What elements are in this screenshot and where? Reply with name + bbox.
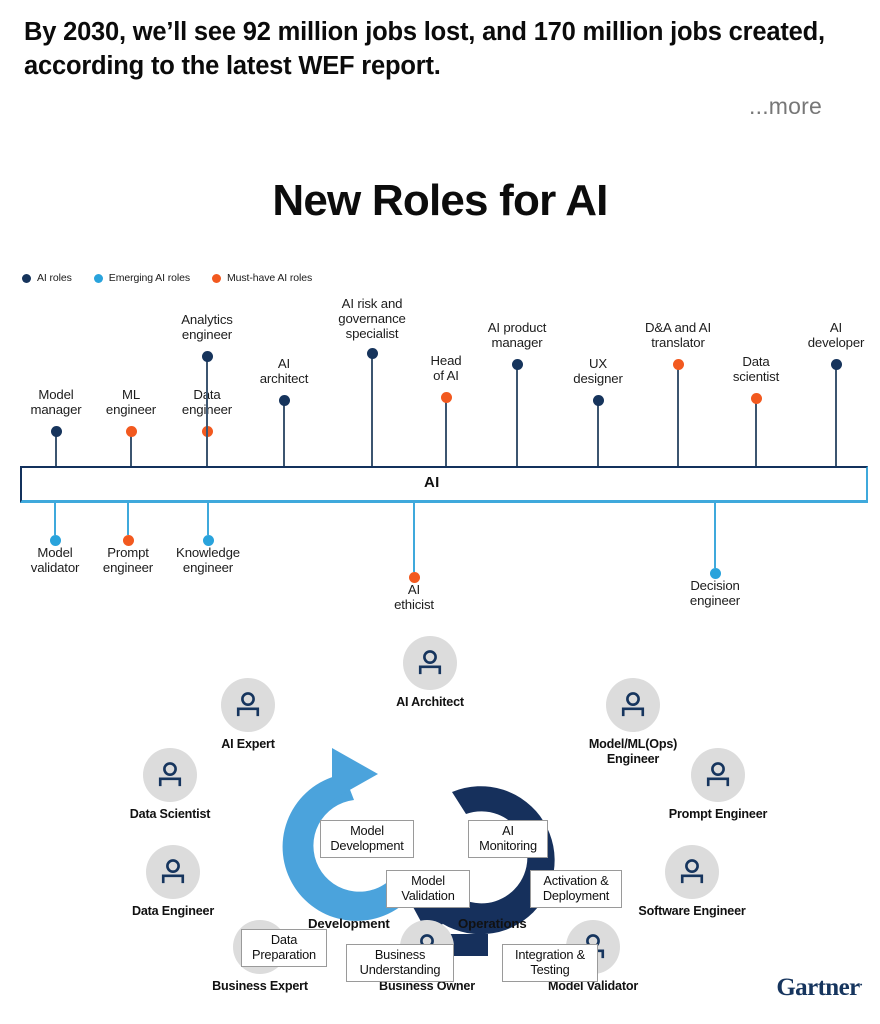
legend-dot-icon — [212, 274, 221, 283]
legend-dot-icon — [94, 274, 103, 283]
gartner-role[interactable]: Software Engineer — [617, 845, 767, 919]
node-stem — [755, 398, 757, 466]
legend-item: Emerging AI roles — [94, 272, 190, 284]
gartner-lifecycle-diagram: Gartner. AI ArchitectAI ExpertModel/ML(O… — [0, 636, 880, 1024]
gartner-role[interactable]: AI Expert — [173, 678, 323, 752]
more-row: ...more — [24, 93, 856, 120]
development-arrowhead — [332, 748, 378, 800]
role-node-label: AI ethicist — [334, 582, 494, 612]
role-node-label: AI risk and governance specialist — [292, 296, 452, 341]
role-node-dot[interactable] — [751, 393, 762, 404]
legend-label: Emerging AI roles — [109, 272, 190, 284]
person-icon — [146, 845, 200, 899]
lifecycle-step-box[interactable]: Model Development — [320, 820, 414, 858]
role-node-label: Decision engineer — [635, 578, 795, 608]
gartner-role-label: Data Scientist — [95, 807, 245, 822]
role-node-dot[interactable] — [831, 359, 842, 370]
role-node-label: Knowledge engineer — [128, 545, 288, 575]
node-stem — [413, 503, 415, 572]
person-icon — [606, 678, 660, 732]
gartner-role[interactable]: AI Architect — [355, 636, 505, 710]
gartner-logo-text: Gartner — [776, 974, 859, 1001]
role-node-label: AI developer — [756, 320, 880, 350]
post-text: By 2030, we’ll see 92 million jobs lost,… — [24, 16, 856, 83]
lifecycle-phase-label: Operations — [458, 916, 527, 931]
gartner-role[interactable]: Prompt Engineer — [643, 748, 793, 822]
chart-legend: AI rolesEmerging AI rolesMust-have AI ro… — [22, 272, 312, 284]
role-node-dot[interactable] — [279, 395, 290, 406]
ai-spine-bar — [20, 466, 868, 503]
operations-arc — [432, 786, 555, 934]
role-node-label: UX designer — [518, 356, 678, 386]
person-icon — [665, 845, 719, 899]
lifecycle-step-box[interactable]: AI Monitoring — [468, 820, 548, 858]
ai-roles-timeline: AI Model managerML engineerData engineer… — [0, 296, 880, 626]
chart-title: New Roles for AI — [0, 176, 880, 226]
role-node-label: AI product manager — [437, 320, 597, 350]
role-node-label: Analytics engineer — [127, 312, 287, 342]
see-more-link[interactable]: ...more — [749, 93, 822, 119]
gartner-logo-mark: . — [860, 975, 862, 989]
role-node-dot[interactable] — [593, 395, 604, 406]
gartner-role-label: Software Engineer — [617, 904, 767, 919]
person-icon — [403, 636, 457, 690]
role-node-dot[interactable] — [51, 426, 62, 437]
lifecycle-step-box[interactable]: Model Validation — [386, 870, 470, 908]
gartner-role-label: Business Expert — [185, 979, 335, 994]
role-node-label: D&A and AI translator — [598, 320, 758, 350]
role-node-label: Data scientist — [676, 354, 836, 384]
role-node-label: Head of AI — [366, 353, 526, 383]
node-stem — [127, 503, 129, 535]
node-stem — [714, 503, 716, 568]
legend-item: Must-have AI roles — [212, 272, 312, 284]
role-node-dot[interactable] — [441, 392, 452, 403]
ai-spine-label: AI — [424, 474, 440, 491]
node-stem — [207, 503, 209, 535]
node-stem — [835, 364, 837, 466]
legend-label: AI roles — [37, 272, 72, 284]
gartner-role[interactable]: Data Scientist — [95, 748, 245, 822]
person-icon — [143, 748, 197, 802]
node-stem — [283, 400, 285, 466]
post-screenshot: By 2030, we’ll see 92 million jobs lost,… — [0, 0, 880, 1024]
lifecycle-step-box[interactable]: Activation & Deployment — [530, 870, 622, 908]
lifecycle-step-box[interactable]: Business Understanding — [346, 944, 454, 982]
post-header: By 2030, we’ll see 92 million jobs lost,… — [0, 0, 880, 120]
node-stem — [54, 503, 56, 535]
person-icon — [691, 748, 745, 802]
node-stem — [445, 397, 447, 466]
gartner-role[interactable]: Data Engineer — [98, 845, 248, 919]
node-stem — [597, 400, 599, 466]
role-node-dot[interactable] — [126, 426, 137, 437]
gartner-logo: Gartner. — [776, 974, 862, 1002]
legend-label: Must-have AI roles — [227, 272, 312, 284]
legend-item: AI roles — [22, 272, 72, 284]
person-icon — [221, 678, 275, 732]
lifecycle-step-box[interactable]: Integration & Testing — [502, 944, 598, 982]
lifecycle-phase-label: Development — [308, 916, 390, 931]
gartner-role-label: AI Architect — [355, 695, 505, 710]
role-node-label: AI architect — [204, 356, 364, 386]
gartner-role-label: Data Engineer — [98, 904, 248, 919]
gartner-role-label: Prompt Engineer — [643, 807, 793, 822]
lifecycle-step-box[interactable]: Data Preparation — [241, 929, 327, 967]
legend-dot-icon — [22, 274, 31, 283]
